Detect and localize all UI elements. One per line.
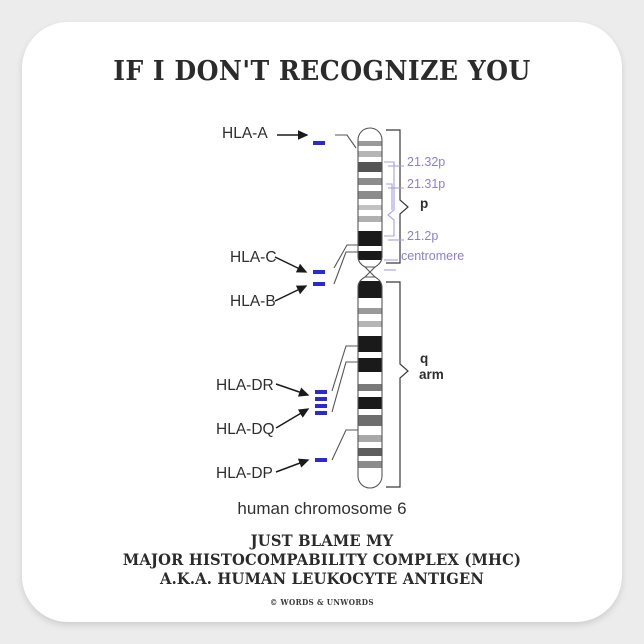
chromosome-6-body — [356, 100, 384, 500]
marker-hla-dr2 — [315, 397, 327, 401]
arrow-hla-dq — [276, 409, 308, 428]
marker-hla-dq2 — [315, 411, 327, 415]
marker-hla-dq1 — [315, 404, 327, 408]
arrow-hla-dp — [276, 460, 308, 472]
marker-hla-a — [313, 141, 325, 145]
label-hla-a: HLA-A — [222, 125, 268, 142]
label-hla-dp: HLA-DP — [216, 465, 273, 482]
diagram-caption: human chromosome 6 — [22, 499, 622, 519]
gene-arrows — [275, 135, 308, 472]
gene-label-group: HLA-AHLA-CHLA-BHLA-DRHLA-DQHLA-DP — [216, 125, 277, 482]
label-centromere: centromere — [401, 249, 464, 263]
label-hla-dq: HLA-DQ — [216, 421, 275, 438]
arrow-hla-dr — [276, 384, 308, 395]
marker-hla-c — [313, 270, 325, 274]
label-b212p: 21.2p — [407, 229, 438, 243]
arm-label-group: pqarm — [419, 196, 444, 382]
punchline-line-1: JUST BLAME MY — [37, 531, 607, 550]
sticker-card: IF I DON'T RECOGNIZE YOU — [22, 22, 622, 622]
arrow-hla-c — [275, 257, 306, 272]
marker-hla-dp — [315, 458, 327, 462]
credit-line: © WORDS & UNWORDS — [52, 597, 592, 607]
punchline-line-2: MAJOR HISTOCOMPABILITY COMPLEX (MHC) — [37, 550, 607, 569]
gene-marker-group — [313, 141, 327, 462]
label-b2131p: 21.31p — [407, 177, 445, 191]
leader-lines — [332, 135, 358, 460]
marker-hla-b — [313, 282, 325, 286]
marker-hla-dr1 — [315, 390, 327, 394]
label-hla-b: HLA-B — [230, 293, 276, 310]
label-b2132p: 21.32p — [407, 155, 445, 169]
label-q-arm-word: arm — [419, 367, 444, 382]
label-hla-dr: HLA-DR — [216, 377, 274, 394]
band-label-group: 21.32p21.31p21.2pcentromere — [401, 155, 464, 263]
chromosome-diagram: HLA-AHLA-CHLA-BHLA-DRHLA-DQHLA-DP 21.32p… — [22, 100, 622, 500]
punchline-line-3: A.K.A. HUMAN LEUKOCYTE ANTIGEN — [37, 569, 607, 588]
page-title: IF I DON'T RECOGNIZE YOU — [43, 56, 601, 87]
arrow-hla-b — [275, 286, 306, 301]
label-hla-c: HLA-C — [230, 249, 277, 266]
label-p-arm: p — [420, 196, 428, 211]
punchline-block: JUST BLAME MY MAJOR HISTOCOMPABILITY COM… — [22, 531, 622, 588]
label-q-arm-letter: q — [420, 351, 428, 366]
